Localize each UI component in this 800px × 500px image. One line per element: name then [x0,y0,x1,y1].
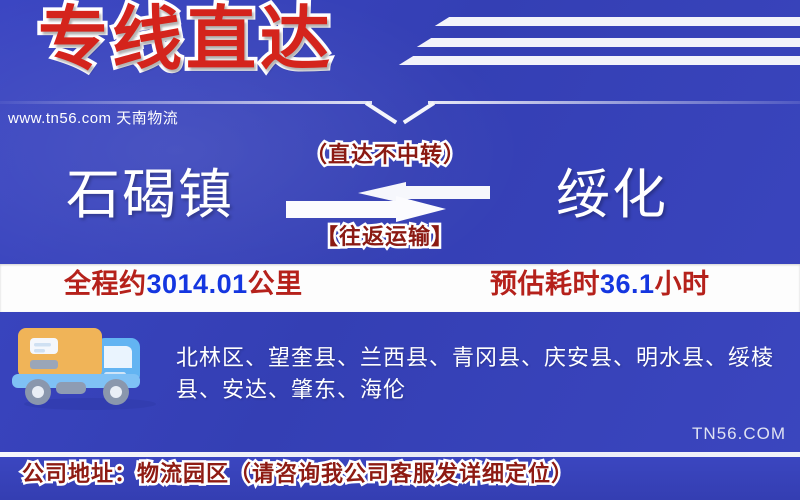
duration-value: 36.1 [600,269,655,299]
speed-stripe-1 [435,17,800,26]
origin-city: 石碣镇 [66,168,234,222]
estimated-duration: 预估耗时36.1小时 [490,271,710,298]
distance-label: 全程约 [64,269,147,299]
destination-city: 绥化 [556,168,668,222]
logistics-route-banner: 专线直达 www.tn56.com 天南物流 石碣镇 绥化 （直达不中转） 【往… [0,0,800,500]
speed-stripe-3 [399,56,800,65]
coverage-area-list: 北林区、望奎县、兰西县、青冈县、庆安县、明水县、绥棱县、安达、肇东、海伦 [176,342,776,406]
chevron-down-icon [368,99,432,129]
note-direct-no-transfer: （直达不中转） [305,144,466,166]
duration-unit: 小时 [655,269,710,299]
page-title: 专线直达 [38,4,334,74]
divider-line-right [428,101,800,104]
speed-stripe-2 [417,38,800,47]
site-url-label: www.tn56.com 天南物流 [8,107,178,128]
divider-line-left [0,101,372,104]
duration-label: 预估耗时 [490,269,600,299]
company-address-text: 公司地址：物流园区（请咨询我公司客服发详细定位） [22,463,574,485]
watermark-label: TN56.COM [692,424,786,444]
distance-unit: 公里 [248,269,303,299]
note-round-trip: 【往返运输】 [316,226,454,248]
double-arrow-icon [286,182,490,222]
distance-value: 3014.01 [147,269,248,299]
total-distance: 全程约3014.01公里 [64,271,303,298]
delivery-truck-icon [8,316,168,412]
